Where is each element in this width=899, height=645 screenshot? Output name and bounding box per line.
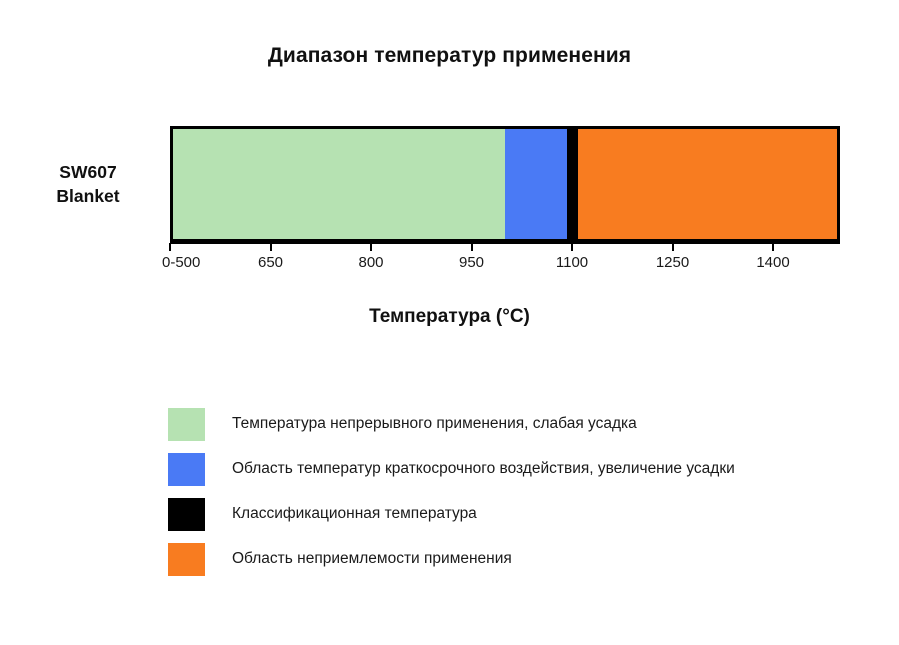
legend-label-2: Классификационная температура xyxy=(232,504,477,524)
chart-root: Диапазон температур применения SW607 Bla… xyxy=(0,0,899,645)
bar-segment-continuous-use xyxy=(173,129,505,239)
y-axis-category-label: SW607 Blanket xyxy=(20,160,156,208)
legend-label-1: Область температур краткосрочного воздей… xyxy=(232,459,735,479)
x-axis-tick-label-2: 800 xyxy=(358,254,383,271)
bar-segment-unacceptable-use xyxy=(578,129,837,239)
legend: Температура непрерывного применения, сла… xyxy=(168,408,868,588)
stacked-bar xyxy=(173,129,837,239)
chart-title: Диапазон температур применения xyxy=(0,44,899,68)
legend-swatch-3 xyxy=(168,543,205,576)
legend-item: Классификационная температура xyxy=(168,498,868,543)
bar-segment-classification-temperature xyxy=(567,129,578,239)
legend-item: Область неприемлемости применения xyxy=(168,543,868,588)
x-axis-tick-label-0: 0-500 xyxy=(162,254,200,271)
x-axis-tick-1 xyxy=(270,243,272,251)
x-axis-tick-label-3: 950 xyxy=(459,254,484,271)
x-axis-tick-label-5: 1250 xyxy=(656,254,689,271)
y-axis-category-label-line-2: Blanket xyxy=(20,184,156,208)
x-axis-tick-3 xyxy=(471,243,473,251)
legend-label-0: Температура непрерывного применения, сла… xyxy=(232,414,637,434)
legend-swatch-0 xyxy=(168,408,205,441)
x-axis-tick-6 xyxy=(772,243,774,251)
legend-swatch-1 xyxy=(168,453,205,486)
legend-item: Температура непрерывного применения, сла… xyxy=(168,408,868,453)
plot-area xyxy=(170,126,840,242)
y-axis-category-label-line-1: SW607 xyxy=(20,160,156,184)
x-axis-tick-4 xyxy=(571,243,573,251)
x-axis-tick-label-6: 1400 xyxy=(756,254,789,271)
x-axis-title: Температура (°C) xyxy=(0,306,899,328)
x-axis-tick-label-1: 650 xyxy=(258,254,283,271)
legend-label-3: Область неприемлемости применения xyxy=(232,549,512,569)
x-axis-tick-2 xyxy=(370,243,372,251)
x-axis-tick-0 xyxy=(169,243,171,251)
legend-item: Область температур краткосрочного воздей… xyxy=(168,453,868,498)
x-axis-tick-5 xyxy=(672,243,674,251)
x-axis-tick-label-4: 1100 xyxy=(556,254,588,271)
legend-swatch-2 xyxy=(168,498,205,531)
bar-segment-short-term-exposure xyxy=(505,129,567,239)
